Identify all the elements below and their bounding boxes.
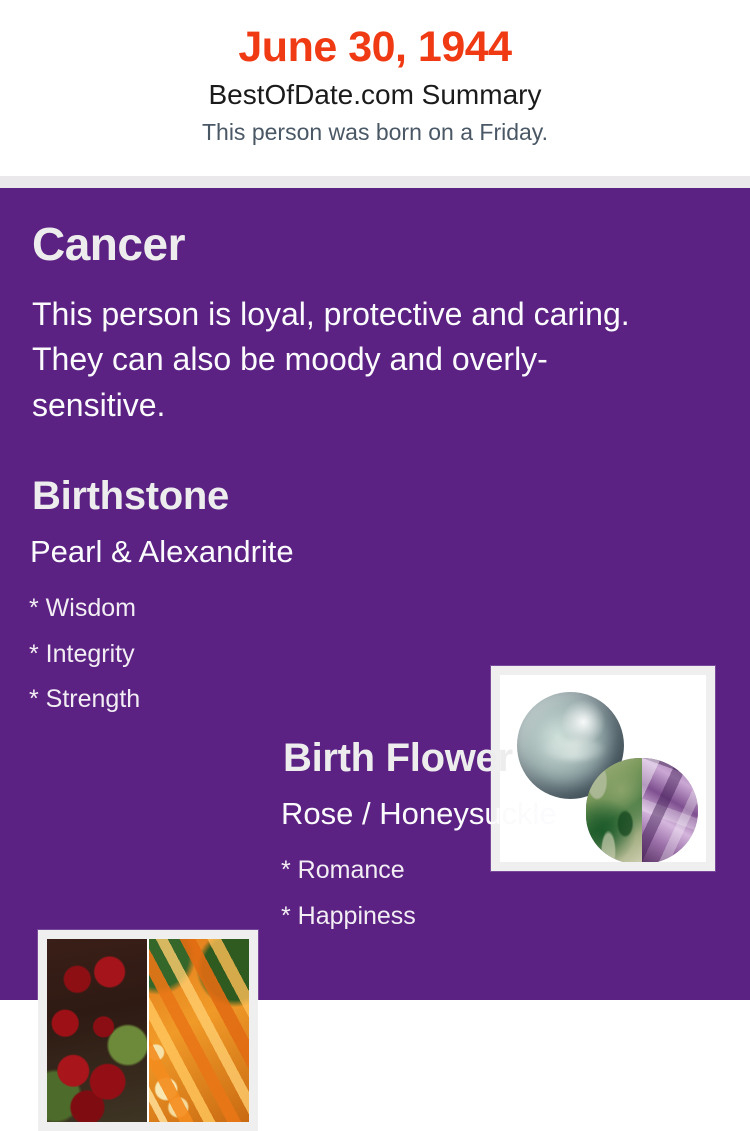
alexandrite-rough-half [586,758,642,862]
birthstone-title: Birthstone [32,476,229,516]
image-split-divider [147,939,149,1122]
birth-day-of-week-text: This person was born on a Friday. [0,111,750,145]
site-name: BestOfDate.com Summary [0,70,750,111]
birth-flower-image-frame [38,930,258,1131]
list-item: * Romance [281,848,416,894]
birthstone-traits-list: * Wisdom * Integrity * Strength [29,586,140,723]
header-divider [0,176,750,188]
list-item: * Happiness [281,894,416,940]
card-header: June 30, 1944 BestOfDate.com Summary Thi… [0,0,750,176]
birth-flower-title: Birth Flower [283,738,513,778]
alexandrite-faceted-half [642,758,698,862]
birthstone-image [500,675,706,862]
birth-flower-name: Rose / Honeysuckle [281,798,557,829]
birthstone-name: Pearl & Alexandrite [30,536,294,567]
alexandrite-gem-icon [586,758,698,862]
list-item: * Integrity [29,632,140,678]
birthstone-image-frame [491,666,715,871]
zodiac-description: This person is loyal, protective and car… [32,292,642,428]
honeysuckle-photo [148,939,249,1122]
list-item: * Strength [29,677,140,723]
summary-card: June 30, 1944 BestOfDate.com Summary Thi… [0,0,750,1000]
red-roses-photo [47,939,148,1122]
birth-flower-image [47,939,249,1122]
details-panel: Cancer This person is loyal, protective … [0,188,750,1000]
zodiac-sign-title: Cancer [32,221,185,267]
list-item: * Wisdom [29,586,140,632]
birth-flower-traits-list: * Romance * Happiness [281,848,416,939]
page-title-date: June 30, 1944 [0,0,750,70]
